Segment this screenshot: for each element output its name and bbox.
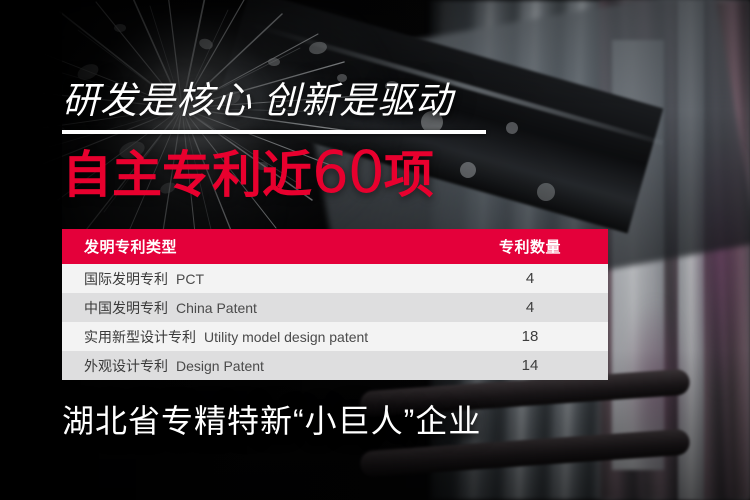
patent-type-en: PCT (176, 271, 204, 287)
patent-type-cn: 中国发明专利 (84, 300, 168, 316)
table-row: 外观设计专利Design Patent14 (62, 351, 608, 380)
cell-patent-type: 国际发明专利PCT (62, 269, 458, 289)
cell-patent-type: 实用新型设计专利Utility model design patent (62, 327, 458, 347)
patent-count-headline-prefix: 自主专利近 (62, 147, 312, 203)
poster-content: 研发是核心 创新是驱动 自主专利近60项 发明专利类型 专利数量 国际发明专利P… (0, 0, 750, 500)
cell-patent-count: 4 (458, 299, 608, 316)
cell-patent-type: 中国发明专利China Patent (62, 298, 458, 318)
cell-patent-type: 外观设计专利Design Patent (62, 356, 458, 376)
patent-count-headline-suffix: 项 (384, 147, 434, 203)
patent-type-en: Utility model design patent (204, 329, 368, 345)
table-header-row: 发明专利类型 专利数量 (62, 229, 608, 264)
patent-count-headline-number: 60 (312, 138, 384, 206)
table-row: 国际发明专利PCT4 (62, 264, 608, 293)
cell-patent-count: 4 (458, 270, 608, 287)
title-divider-rule (62, 130, 486, 134)
patent-count-headline: 自主专利近60项 (62, 143, 434, 204)
footer-caption: 湖北省专精特新“小巨人”企业 (62, 400, 481, 442)
column-header-count: 专利数量 (458, 236, 608, 257)
patent-type-en: China Patent (176, 300, 257, 316)
table-body: 国际发明专利PCT4中国发明专利China Patent4实用新型设计专利Uti… (62, 264, 608, 380)
column-header-type: 发明专利类型 (62, 236, 458, 257)
patent-type-cn: 外观设计专利 (84, 358, 168, 374)
patent-type-en: Design Patent (176, 358, 264, 374)
patent-type-cn: 实用新型设计专利 (84, 329, 196, 345)
patent-table: 发明专利类型 专利数量 国际发明专利PCT4中国发明专利China Patent… (62, 229, 608, 380)
cell-patent-count: 14 (458, 357, 608, 374)
patent-type-cn: 国际发明专利 (84, 271, 168, 287)
table-row: 中国发明专利China Patent4 (62, 293, 608, 322)
page-title: 研发是核心 创新是驱动 (62, 79, 453, 123)
table-row: 实用新型设计专利Utility model design patent18 (62, 322, 608, 351)
poster-stage: 研发是核心 创新是驱动 自主专利近60项 发明专利类型 专利数量 国际发明专利P… (0, 0, 750, 500)
cell-patent-count: 18 (458, 328, 608, 345)
